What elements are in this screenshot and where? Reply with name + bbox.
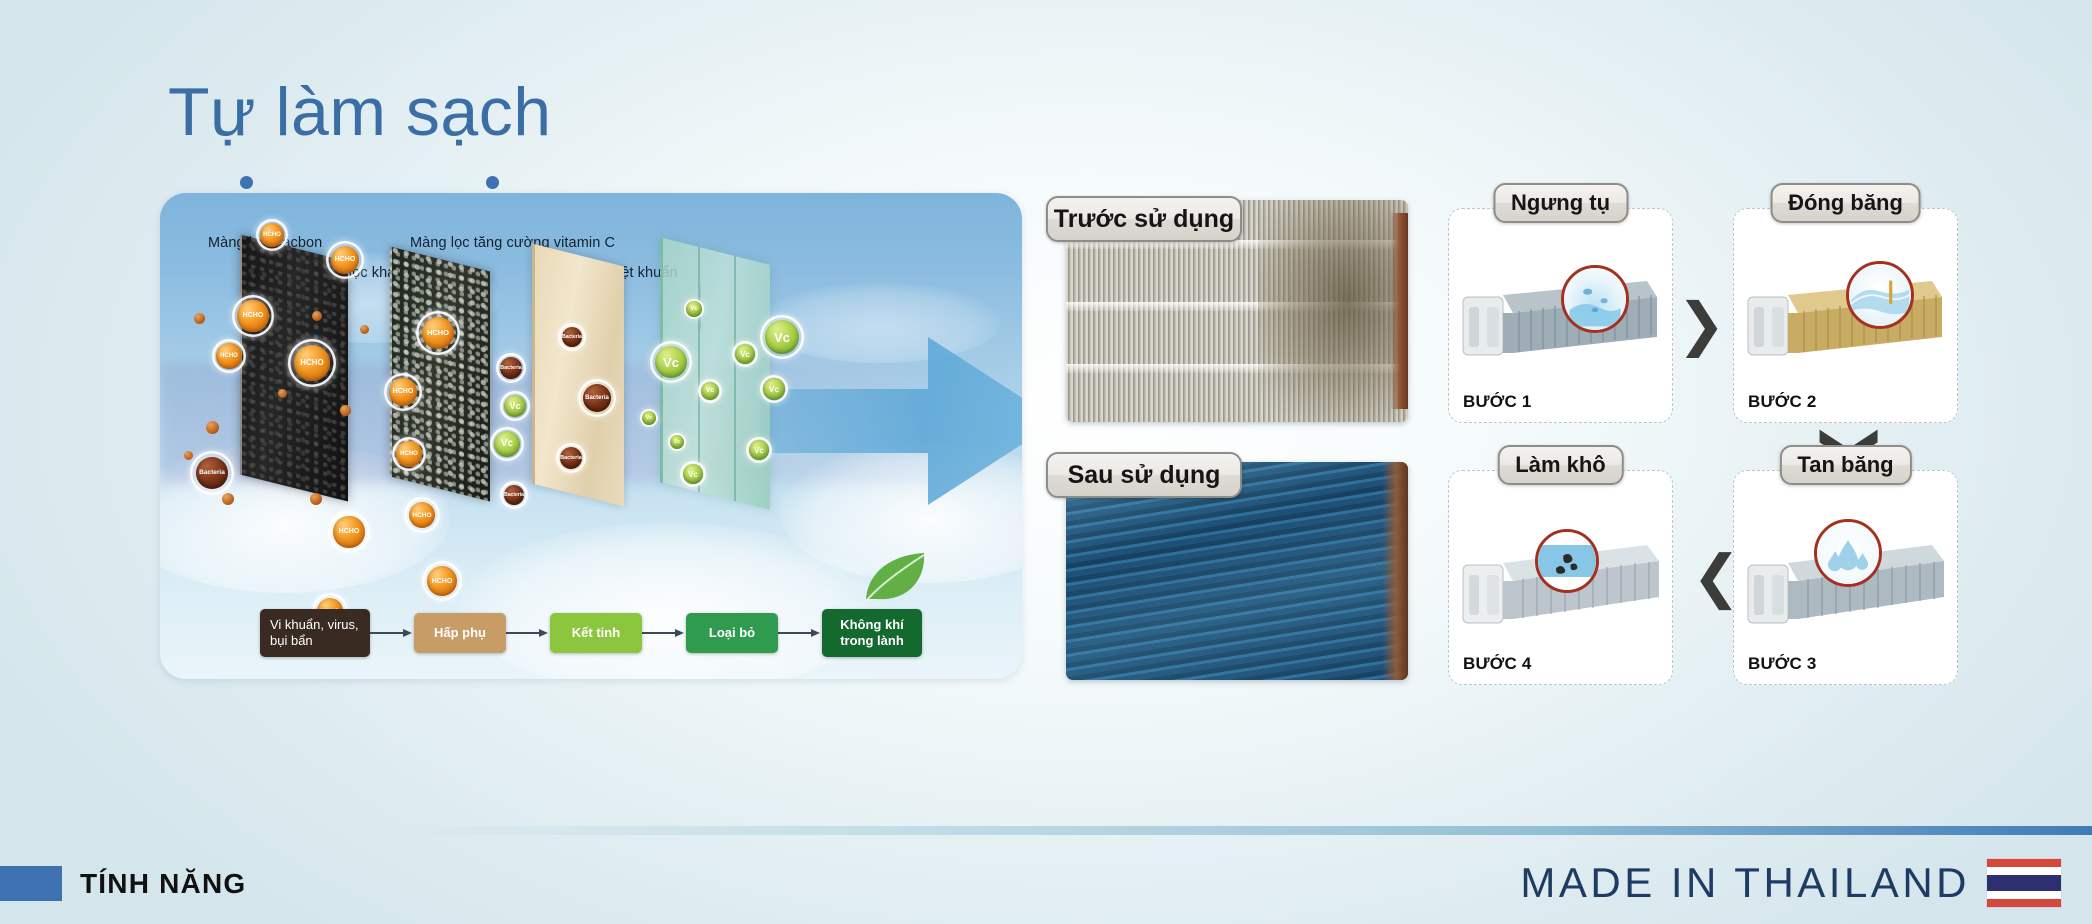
vitamin-c-label: Vc (504, 395, 527, 418)
hcho-bubble: HCHO (288, 339, 336, 387)
step-4-title: Làm khô (1497, 445, 1623, 485)
hcho-label: HCHO (422, 317, 455, 350)
frost-layer-icon (1849, 264, 1911, 326)
step-1-number: BƯỚC 1 (1463, 392, 1532, 412)
bacteria-bubble: Bacteria (500, 481, 528, 509)
page-title: Tự làm sạch (168, 78, 552, 146)
hcho-bubble: HCHO (404, 497, 440, 533)
bacteria-label: Bacteria (583, 384, 611, 412)
hcho-label: HCHO (427, 566, 457, 596)
connector-step3-to-step4: ❯ (1692, 556, 1741, 614)
dust-particle (312, 311, 322, 321)
bacteria-bubble: Bacteria (496, 353, 526, 383)
hcho-label: HCHO (331, 246, 359, 274)
dust-particle (222, 493, 234, 505)
footer-divider (388, 826, 2092, 835)
bacteria-bubble: Bacteria (556, 443, 586, 473)
vitamin-c-label: Vc (655, 346, 687, 378)
vitamin-c-label: Vc (701, 382, 719, 400)
vitamin-c-bubble: Vc (640, 409, 658, 427)
vitamin-c-bubble: Vc (500, 391, 530, 421)
hcho-bubble: HCHO (422, 561, 462, 601)
vitamin-c-bubble: Vc (698, 379, 722, 403)
vitamin-c-bubble: Vc (684, 299, 704, 319)
vitamin-c-bubble: Vc (746, 437, 772, 463)
vitamin-c-bubble: Vc (490, 427, 524, 461)
hcho-label: HCHO (294, 345, 330, 381)
step-card-4: Làm khô BƯỚC 4 (1448, 470, 1673, 685)
step-card-2: Đóng băng BƯỚC 2 (1733, 208, 1958, 423)
thailand-flag-icon (1986, 858, 2062, 908)
vitamin-c-label: Vc (494, 431, 520, 457)
accent-dot-left (240, 176, 253, 189)
bacteria-bubble: Bacteria (558, 323, 586, 351)
hcho-bubble: HCHO (392, 437, 426, 471)
flow-arrow-icon (642, 627, 686, 639)
dust-particle (194, 313, 205, 324)
vitamin-c-label: Vc (686, 301, 701, 316)
magnifier-ring (1535, 529, 1599, 593)
bacteria-label: Bacteria (500, 357, 522, 379)
hcho-bubble: HCHO (326, 241, 364, 279)
flow-step-contaminants: Vi khuẩn, virus, bụi bẩn (260, 609, 370, 657)
flow-step-crystallization: Kết tinh (550, 613, 642, 653)
hcho-label: HCHO (237, 300, 268, 331)
bacteria-bubble: Bacteria (190, 451, 234, 495)
evaporator-coil-icon (1461, 273, 1661, 369)
vitamin-c-label: Vc (749, 440, 769, 460)
flow-arrow-icon (370, 627, 414, 639)
vitamin-c-label: Vc (670, 435, 684, 449)
step-3-title: Tan băng (1779, 445, 1911, 485)
dust-particle (360, 325, 369, 334)
vitamin-c-label: Vc (763, 378, 784, 399)
flow-step-clean-air: Không khí trong lành (822, 609, 922, 657)
before-use-badge: Trước sử dụng (1046, 196, 1242, 242)
vitamin-c-label: Vc (735, 344, 755, 364)
step-4-number: BƯỚC 4 (1463, 654, 1532, 674)
vitamin-c-bubble: Vc (668, 433, 686, 451)
vitamin-c-bubble: Vc (732, 341, 758, 367)
copper-edge (1390, 213, 1408, 408)
step-3-number: BƯỚC 3 (1748, 654, 1817, 674)
hcho-label: HCHO (333, 516, 364, 547)
dust-particle (278, 389, 287, 398)
hcho-label: HCHO (396, 441, 421, 466)
made-in-thailand-label: MADE IN THAILAND (1520, 859, 1970, 907)
after-use-badge: Sau sử dụng (1046, 452, 1242, 498)
leaf-icon (860, 549, 930, 605)
vitamin-c-bubble: Vc (650, 341, 692, 383)
water-droplets-icon (1817, 522, 1879, 584)
vitamin-c-label: Vc (683, 464, 703, 484)
magnifier-ring (1561, 265, 1629, 333)
hcho-label: HCHO (260, 223, 284, 247)
vitamin-c-label: Vc (765, 320, 798, 353)
bacteria-label: Bacteria (560, 447, 582, 469)
hcho-bubble: HCHO (384, 373, 422, 411)
dust-particle (184, 451, 193, 460)
hcho-bubble: HCHO (256, 219, 288, 251)
hcho-label: HCHO (389, 378, 417, 406)
flow-step-removal: Loại bỏ (686, 613, 778, 653)
footer-section-label: TÍNH NĂNG (80, 868, 246, 900)
step-2-title: Đóng băng (1770, 183, 1921, 223)
copper-edge (1382, 462, 1408, 680)
accent-dot-right (486, 176, 499, 189)
magnifier-ring (1814, 519, 1882, 587)
step-1-title: Ngưng tụ (1493, 183, 1628, 223)
step-card-1: Ngưng tụ (1448, 208, 1673, 423)
bacteria-label: Bacteria (196, 457, 229, 490)
footer-right: MADE IN THAILAND (1520, 858, 2062, 908)
vitamin-c-bubble: Vc (680, 461, 706, 487)
bacteria-label: Bacteria (562, 327, 583, 348)
vitamin-c-bubble: Vc (760, 375, 788, 403)
airflow-arrow-icon (760, 321, 1022, 521)
vitamin-c-filter-label: Màng lọc tăng cường vitamin C (410, 235, 615, 251)
hcho-bubble: HCHO (328, 511, 370, 553)
vitamin-c-label: Vc (642, 411, 656, 425)
vitamin-c-bubble: Vc (760, 315, 804, 359)
footer-left: TÍNH NĂNG (0, 866, 246, 901)
bacteria-label: Bacteria (504, 485, 525, 506)
hcho-label: HCHO (216, 343, 241, 368)
hcho-bubble: HCHO (212, 339, 246, 373)
footer-accent-block (0, 866, 62, 901)
hcho-bubble: HCHO (416, 311, 460, 355)
hcho-bubble: HCHO (232, 295, 274, 337)
dust-particle (340, 405, 351, 416)
dirt-overlay (1258, 200, 1408, 422)
step-card-3: Tan băng BƯỚC 3 (1733, 470, 1958, 685)
hcho-label: HCHO (409, 502, 436, 529)
dust-particle (310, 493, 322, 505)
step-2-number: BƯỚC 2 (1748, 392, 1817, 412)
flow-arrow-icon (778, 627, 822, 639)
connector-step1-to-step2: ❯ (1677, 296, 1726, 354)
bacteria-bubble: Bacteria (578, 379, 616, 417)
dirt-particles-icon (1538, 532, 1596, 590)
slide-root: Tự làm sạch Màng lọc Cacbon Màng lọc khá… (0, 0, 2092, 924)
flow-arrow-icon (506, 627, 550, 639)
flow-step-adsorption: Hấp phụ (414, 613, 506, 653)
magnifier-ring (1846, 261, 1914, 329)
purification-flow: Vi khuẩn, virus, bụi bẩn Hấp phụ Kết tin… (260, 609, 922, 657)
filter-diagram-panel: Màng lọc Cacbon Màng lọc kháng virus Màn… (160, 193, 1022, 679)
dust-particle (206, 421, 219, 434)
condensation-droplets-icon (1564, 268, 1626, 330)
